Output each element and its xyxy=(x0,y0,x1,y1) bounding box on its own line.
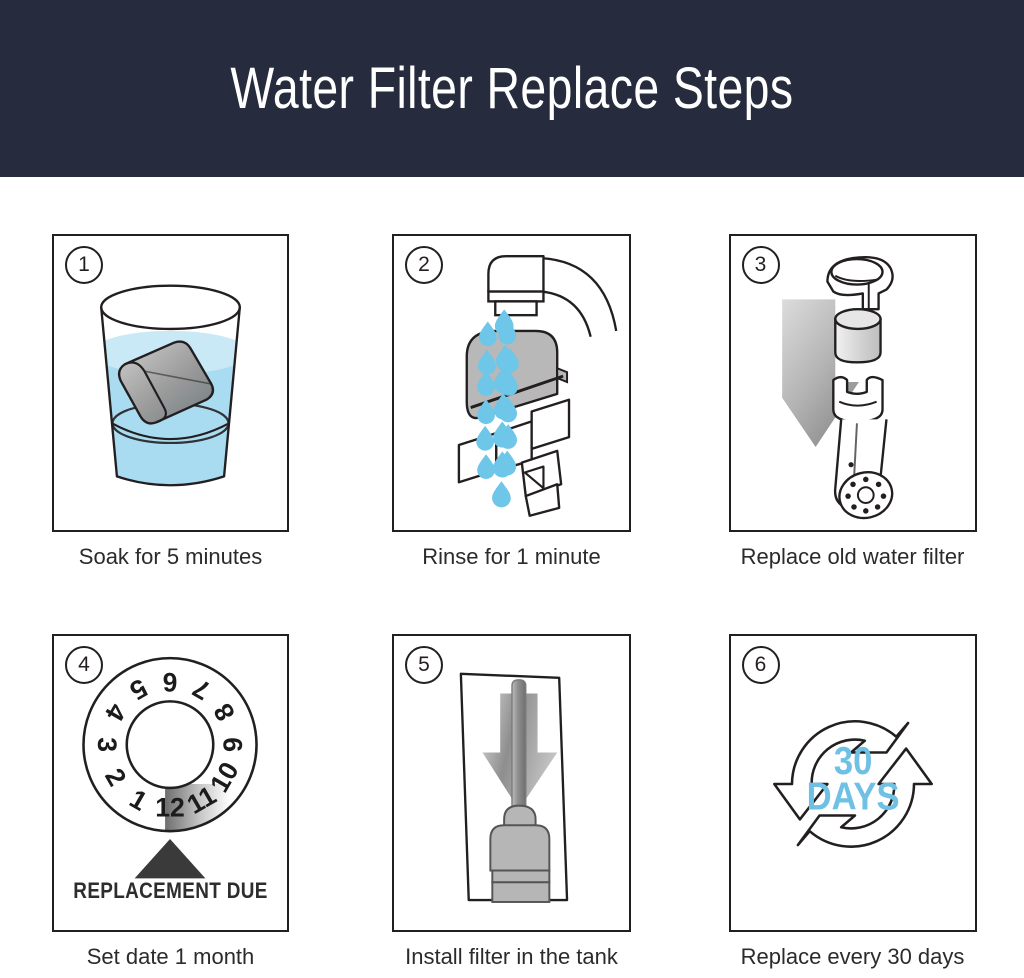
step-panel-6: 6 30 DAYS xyxy=(729,634,977,932)
step-panel-5: 5 xyxy=(392,634,631,932)
step-card-1: 1 xyxy=(0,177,341,577)
svg-text:6: 6 xyxy=(163,667,178,697)
steps-grid: 1 xyxy=(0,177,1024,978)
svg-text:DAYS: DAYS xyxy=(806,773,899,818)
step-card-2: 2 xyxy=(341,177,682,577)
step-number-badge-5: 5 xyxy=(405,646,443,684)
step-card-3: 3 xyxy=(682,177,1023,577)
step-panel-1: 1 xyxy=(52,234,289,532)
replacement-due-label: REPLACEMENT DUE xyxy=(70,878,270,904)
page-title: Water Filter Replace Steps xyxy=(230,60,793,118)
step-caption-1: Soak for 5 minutes xyxy=(79,544,262,570)
step-number-badge-6: 6 xyxy=(742,646,780,684)
step-card-4: 4 xyxy=(0,577,341,977)
step-caption-2: Rinse for 1 minute xyxy=(422,544,601,570)
page-header: Water Filter Replace Steps xyxy=(0,0,1024,177)
svg-text:5: 5 xyxy=(124,673,152,706)
step-caption-5: Install filter in the tank xyxy=(405,944,618,970)
step-number-badge-1: 1 xyxy=(65,246,103,284)
svg-text:1: 1 xyxy=(125,783,153,816)
step-card-5: 5 xyxy=(341,577,682,977)
step-caption-3: Replace old water filter xyxy=(741,544,965,570)
step-caption-4: Set date 1 month xyxy=(87,944,255,970)
svg-text:3: 3 xyxy=(92,737,122,752)
svg-text:4: 4 xyxy=(99,698,132,726)
step-panel-4: 4 xyxy=(52,634,289,932)
svg-text:2: 2 xyxy=(99,763,132,791)
svg-text:9: 9 xyxy=(218,737,248,752)
step-card-6: 6 30 DAYS Replace every 30 days xyxy=(682,577,1023,977)
step-panel-3: 3 xyxy=(729,234,977,532)
svg-text:7: 7 xyxy=(188,673,216,706)
step-number-badge-4: 4 xyxy=(65,646,103,684)
svg-text:8: 8 xyxy=(208,698,241,726)
step-number-badge-2: 2 xyxy=(405,246,443,284)
svg-text:12: 12 xyxy=(155,793,185,823)
step-number-badge-3: 3 xyxy=(742,246,780,284)
step-panel-2: 2 xyxy=(392,234,631,532)
step-caption-6: Replace every 30 days xyxy=(741,944,965,970)
